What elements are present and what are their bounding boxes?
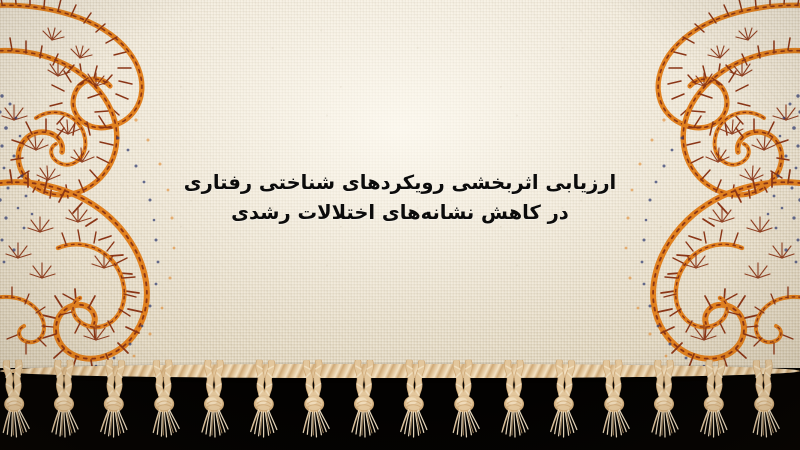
title-line-1: ارزیابی اثربخشی رویکردهای شناختی رفتاری [0,168,800,198]
tassel-row [0,366,800,450]
tassel [197,360,231,438]
tassel [546,359,583,438]
tassel [396,359,433,438]
tassel [446,359,483,438]
tassel [0,359,32,438]
tassel [246,359,283,438]
title-line-2: در کاهش نشانه‌های اختلالات رشدی [0,198,800,228]
tassel [96,359,133,438]
tassel [596,359,633,438]
tassel [296,359,333,438]
slide-canvas: ارزیابی اثربخشی رویکردهای شناختی رفتاری … [0,0,800,450]
slide-title: ارزیابی اثربخشی رویکردهای شناختی رفتاری … [0,168,800,228]
tassel [47,360,81,438]
tassel [497,360,531,438]
tassel [146,359,183,438]
tassel [746,359,783,438]
tassel [347,360,381,438]
tassel [647,360,681,438]
tassel [696,359,733,438]
